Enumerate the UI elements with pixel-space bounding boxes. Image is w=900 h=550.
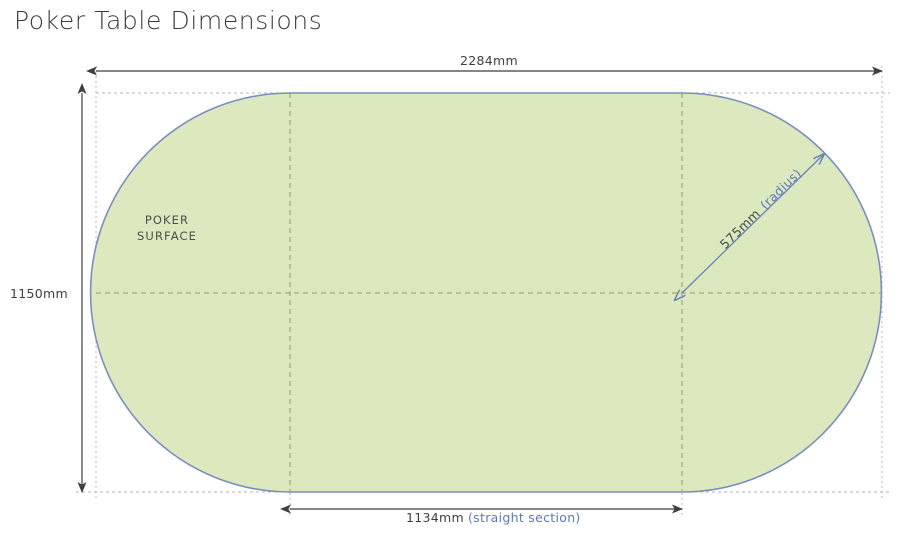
surface-label-line1: POKER <box>145 213 189 227</box>
poker-table-drawing: Poker Table Dimensions <box>0 0 900 550</box>
dimension-label-overall-height: 1150mm <box>10 286 68 301</box>
dimension-overall-width: 2284mm <box>96 53 882 71</box>
dimension-note-straight-section: (straight section) <box>468 510 581 525</box>
technical-drawing-canvas: 2284mm 1150mm 1134mm (straight section) … <box>0 0 900 550</box>
dimension-label-straight-section: 1134mm <box>406 510 464 525</box>
surface-label-line2: SURFACE <box>137 229 197 243</box>
dimension-straight-section: 1134mm (straight section) <box>290 509 682 525</box>
dimension-label-overall-width: 2284mm <box>460 53 518 68</box>
dimension-overall-height: 1150mm <box>10 93 82 492</box>
